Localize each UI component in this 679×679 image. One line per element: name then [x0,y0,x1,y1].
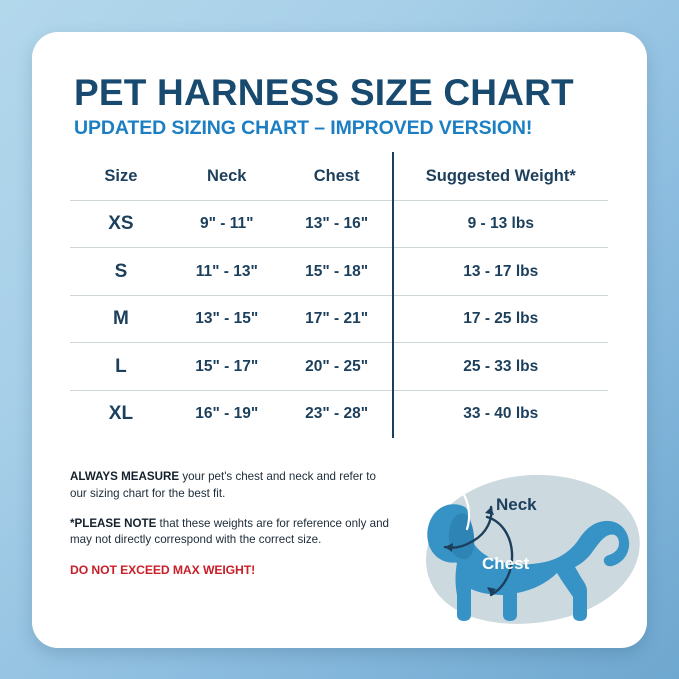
size-table-container: Size Neck Chest Suggested Weight* XS 9" … [68,150,610,440]
cell-neck: 9" - 11" [172,201,282,248]
dog-illustration: Neck Chest [407,457,652,642]
cell-size: L [69,343,172,390]
column-header-weight: Suggested Weight* [393,151,609,201]
table-header-row: Size Neck Chest Suggested Weight* [69,151,609,201]
cell-neck: 16" - 19" [172,390,282,439]
cell-chest: 15" - 18" [282,248,393,295]
note-please-note-label: *PLEASE NOTE [70,517,156,530]
table-body: XS 9" - 11" 13" - 16" 9 - 13 lbs S 11" -… [69,201,609,440]
chest-label: Chest [482,554,529,574]
note-max-weight-warning: DO NOT EXCEED MAX WEIGHT! [70,562,390,580]
cell-weight: 25 - 33 lbs [393,343,609,390]
cell-weight: 33 - 40 lbs [393,390,609,439]
cell-size: S [69,248,172,295]
note-please-note: *PLEASE NOTE that these weights are for … [70,516,390,550]
notes-block: ALWAYS MEASURE your pet's chest and neck… [70,469,390,580]
cell-weight: 17 - 25 lbs [393,295,609,342]
table-row: S 11" - 13" 15" - 18" 13 - 17 lbs [69,248,609,295]
column-header-chest: Chest [282,151,393,201]
column-header-neck: Neck [172,151,282,201]
cell-chest: 20" - 25" [282,343,393,390]
cell-weight: 13 - 17 lbs [393,248,609,295]
cell-chest: 23" - 28" [282,390,393,439]
page-title: PET HARNESS SIZE CHART [74,74,614,112]
cell-weight: 9 - 13 lbs [393,201,609,248]
cell-neck: 11" - 13" [172,248,282,295]
cell-size: M [69,295,172,342]
table-header: Size Neck Chest Suggested Weight* [69,151,609,201]
size-table: Size Neck Chest Suggested Weight* XS 9" … [68,150,610,440]
title-block: PET HARNESS SIZE CHART UPDATED SIZING CH… [74,74,614,139]
size-chart-page: PET HARNESS SIZE CHART UPDATED SIZING CH… [0,0,679,679]
table-row: L 15" - 17" 20" - 25" 25 - 33 lbs [69,343,609,390]
cell-chest: 13" - 16" [282,201,393,248]
dog-diagram-svg [407,457,652,642]
cell-neck: 15" - 17" [172,343,282,390]
page-subtitle: UPDATED SIZING CHART – IMPROVED VERSION! [74,118,614,139]
cell-chest: 17" - 21" [282,295,393,342]
note-always-measure-label: ALWAYS MEASURE [70,470,179,483]
cell-size: XL [69,390,172,439]
neck-label: Neck [496,495,537,515]
table-row: XS 9" - 11" 13" - 16" 9 - 13 lbs [69,201,609,248]
cell-neck: 13" - 15" [172,295,282,342]
note-always-measure: ALWAYS MEASURE your pet's chest and neck… [70,469,390,503]
table-row: XL 16" - 19" 23" - 28" 33 - 40 lbs [69,390,609,439]
content-card: PET HARNESS SIZE CHART UPDATED SIZING CH… [32,32,647,648]
table-row: M 13" - 15" 17" - 21" 17 - 25 lbs [69,295,609,342]
cell-size: XS [69,201,172,248]
column-header-size: Size [69,151,172,201]
